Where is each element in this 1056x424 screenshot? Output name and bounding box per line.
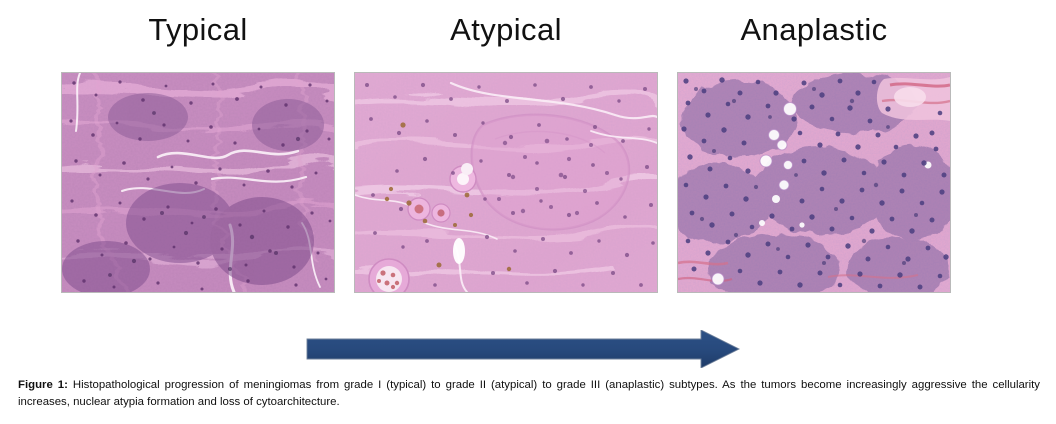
progression-arrow (303, 330, 743, 368)
panel-title-atypical: Atypical (355, 8, 657, 52)
figure-caption-text: Histopathological progression of meningi… (18, 379, 1040, 408)
figure-caption: Figure 1: Histopathological progression … (18, 377, 1040, 410)
micrograph-anaplastic (678, 73, 950, 292)
panel-title-typical: Typical (62, 8, 334, 52)
micrograph-atypical (355, 73, 657, 292)
micrograph-typical (62, 73, 334, 292)
figure-caption-label: Figure 1: (18, 379, 68, 391)
panel-title-anaplastic: Anaplastic (678, 8, 950, 52)
